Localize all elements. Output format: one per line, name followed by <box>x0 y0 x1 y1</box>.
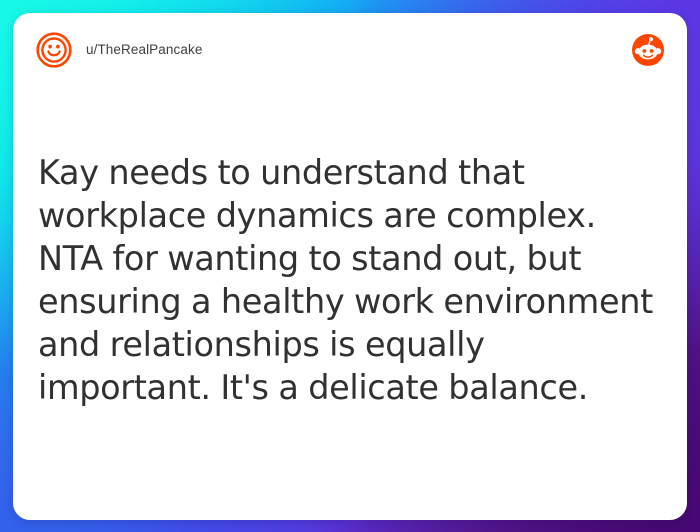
post-header: u/TheRealPancake <box>13 13 687 87</box>
post-body: Kay needs to understand that workplace d… <box>13 87 687 520</box>
post-text: Kay needs to understand that workplace d… <box>38 87 661 409</box>
reddit-post-card: u/TheRealPancake <box>13 13 687 520</box>
username-label: u/TheRealPancake <box>86 43 202 57</box>
reddit-snoo-logo-icon <box>631 33 665 67</box>
smiley-face-avatar-icon <box>35 31 73 69</box>
gradient-background: u/TheRealPancake <box>0 0 700 532</box>
